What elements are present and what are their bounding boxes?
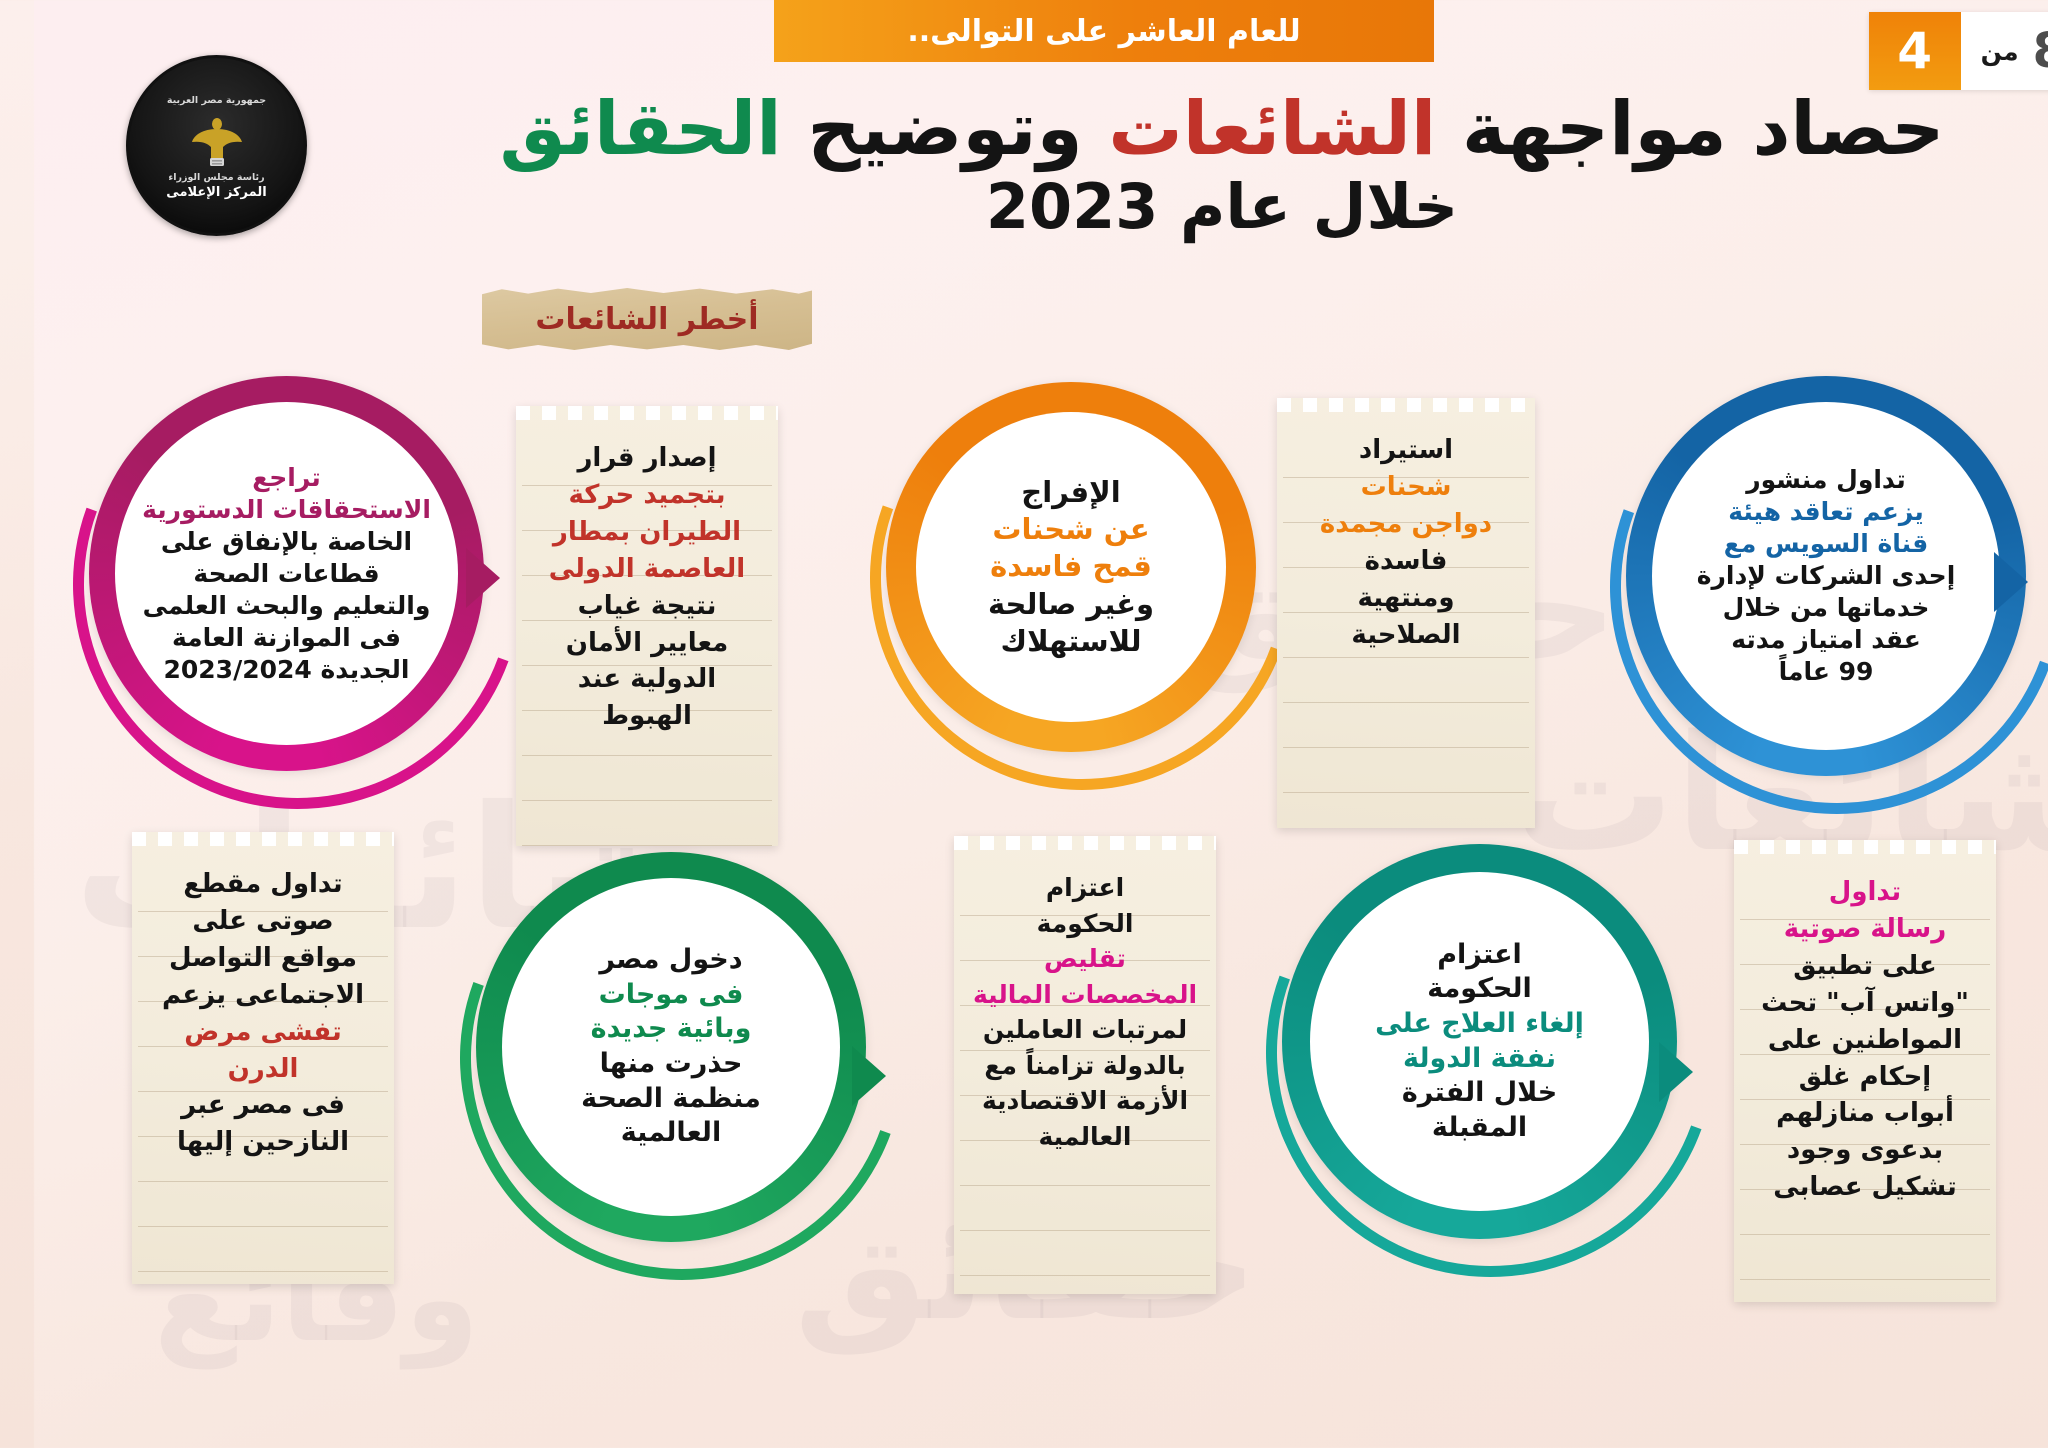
logo-mid-text: رئاسة مجلس الوزراء	[134, 172, 230, 183]
title-part-1: حصاد مواجهة	[1402, 86, 1910, 172]
rumor-note-text: اعتزامالحكومةتقليصالمخصصات الماليةلمرتبا…	[936, 870, 1166, 1154]
rumor-note-text: استيرادشحناتدواجن مجمدةفاسدةومنتهيةالصلا…	[1259, 432, 1485, 653]
rumor-line: المخصصات المالية	[936, 977, 1166, 1013]
rumor-line: الحكومة	[936, 906, 1166, 942]
rumor-line: الأزمة الاقتصادية	[936, 1083, 1166, 1119]
rumor-note-financial-allocations-cut[interactable]: اعتزامالحكومةتقليصالمخصصات الماليةلمرتبا…	[920, 836, 1182, 1294]
rumor-note-tuberculosis-outbreak-audio[interactable]: تداول مقطعصوتى علىمواقع التواصلالاجتماعى…	[98, 832, 360, 1284]
page-of-label: من	[1947, 37, 1985, 66]
rumor-line: "واتس آب" تحث	[1716, 985, 1946, 1022]
flow-arrow-icon	[1625, 1042, 1659, 1102]
flow-arrow-icon	[432, 548, 466, 608]
rumor-line: دواجن مجمدة	[1259, 506, 1485, 543]
rumor-line: مواقع التواصل	[114, 940, 344, 977]
note-rule-line	[488, 800, 738, 801]
rumor-line: صوتى على	[114, 903, 344, 940]
rumor-line: المواطنين على	[1716, 1022, 1946, 1059]
rumor-line: تفشى مرض الدرن	[114, 1014, 344, 1088]
section-label-banner: أخطر الشائعات	[448, 288, 778, 350]
note-rule-line	[104, 1181, 354, 1182]
rumor-line: اعتزام	[936, 870, 1166, 906]
rumor-line: أبواب منازلهم	[1716, 1095, 1946, 1132]
title-part-rumors: الشائعات	[1074, 86, 1402, 172]
rumor-line: فى مصر عبر	[114, 1087, 344, 1124]
section-label-text: أخطر الشائعات	[501, 302, 724, 337]
rumor-line: النازحين إليها	[114, 1124, 344, 1161]
page-counter: 8 من 4	[1835, 12, 2048, 90]
rumor-line: الصلاحية	[1259, 617, 1485, 654]
rumor-line: نتيجة غياب	[498, 588, 728, 625]
rumor-line: رسالة صوتية	[1716, 911, 1946, 948]
note-rule-line	[1249, 657, 1495, 658]
rumor-line: فاسدة	[1259, 543, 1485, 580]
note-rule-line	[104, 1226, 354, 1227]
note-rule-line	[926, 1185, 1176, 1186]
rumor-line: استيراد	[1259, 432, 1485, 469]
rumor-line: الطيران بمطار	[498, 514, 728, 551]
logo-top-text: جمهورية مصر العربية	[133, 95, 232, 106]
page-counter-current-group: 4	[1835, 12, 1927, 90]
rumor-line: تداول مقطع	[114, 866, 344, 903]
decorative-swoosh-arc	[1158, 754, 1755, 1351]
rumor-line: بالدولة تزامناً مع	[936, 1048, 1166, 1084]
rumor-line: تشكيل عصابى	[1716, 1169, 1946, 1206]
rumor-line: لمرتبات العاملين	[936, 1012, 1166, 1048]
rumor-note-frozen-poultry-imports[interactable]: استيرادشحناتدواجن مجمدةفاسدةومنتهيةالصلا…	[1243, 398, 1501, 828]
logo-bottom-text: المركز الإعلامى	[132, 185, 232, 200]
rumor-note-capital-airport-flights-freeze[interactable]: إصدار قراربتجميد حركةالطيران بمطارالعاصم…	[482, 406, 744, 846]
note-rule-line	[1706, 1279, 1956, 1280]
flow-arrow-icon	[1960, 552, 1994, 612]
note-rule-line	[1249, 702, 1495, 703]
rumor-line: الهبوط	[498, 698, 728, 735]
flow-arrow-icon	[818, 1046, 852, 1106]
note-rule-line	[488, 755, 738, 756]
note-rule-line	[104, 1271, 354, 1272]
rumor-line: العاصمة الدولى	[498, 551, 728, 588]
decorative-swoosh-arc	[353, 763, 943, 1353]
note-rule-line	[1249, 747, 1495, 748]
title-part-facts: الحقائق	[466, 86, 748, 172]
title-line-2: خلال عام 2023	[388, 171, 1988, 242]
rumor-line: العالمية	[936, 1119, 1166, 1155]
government-logo: جمهورية مصر العربية رئاسة مجلس الوزراء ا…	[92, 55, 273, 236]
page-total: 8	[1999, 27, 2032, 75]
rumor-line: إحكام غلق	[1716, 1059, 1946, 1096]
rumor-note-text: تداولرسالة صوتيةعلى تطبيق"واتس آب" تحثال…	[1716, 874, 1946, 1206]
rumor-line: ومنتهية	[1259, 580, 1485, 617]
rumor-line: تداول	[1716, 874, 1946, 911]
title-part-3: وتوضيح	[748, 86, 1075, 172]
rumor-line: على تطبيق	[1716, 948, 1946, 985]
note-rule-line	[926, 1275, 1176, 1276]
rumor-line: شحنات	[1259, 469, 1485, 506]
decorative-swoosh-arc	[0, 286, 562, 883]
top-banner: للعام العاشر على التوالى..	[740, 0, 1400, 62]
page-counter-total-group: 8 من	[1927, 12, 2048, 90]
page-current: 4	[1863, 26, 1898, 76]
eagle-emblem-icon	[155, 108, 211, 170]
note-rule-line	[1249, 792, 1495, 793]
rumor-note-text: تداول مقطعصوتى علىمواقع التواصلالاجتماعى…	[114, 866, 344, 1161]
page-title: حصاد مواجهة الشائعات وتوضيح الحقائق خلال…	[388, 88, 1988, 242]
rumor-line: بتجميد حركة	[498, 477, 728, 514]
rumor-line: الاجتماعى يزعم	[114, 977, 344, 1014]
rumor-line: تقليص	[936, 941, 1166, 977]
rumor-line: معايير الأمان	[498, 625, 728, 662]
top-banner-label: للعام العاشر على التوالى..	[873, 14, 1266, 49]
note-rule-line	[1706, 1234, 1956, 1235]
rumor-note-whatsapp-gangs-voice-message[interactable]: تداولرسالة صوتيةعلى تطبيق"واتس آب" تحثال…	[1700, 840, 1962, 1302]
rumor-line: الدولية عند	[498, 661, 728, 698]
note-rule-line	[926, 1230, 1176, 1231]
rumor-line: إصدار قرار	[498, 440, 728, 477]
rumor-line: بدعوى وجود	[1716, 1132, 1946, 1169]
rumor-note-text: إصدار قراربتجميد حركةالطيران بمطارالعاصم…	[498, 440, 728, 735]
